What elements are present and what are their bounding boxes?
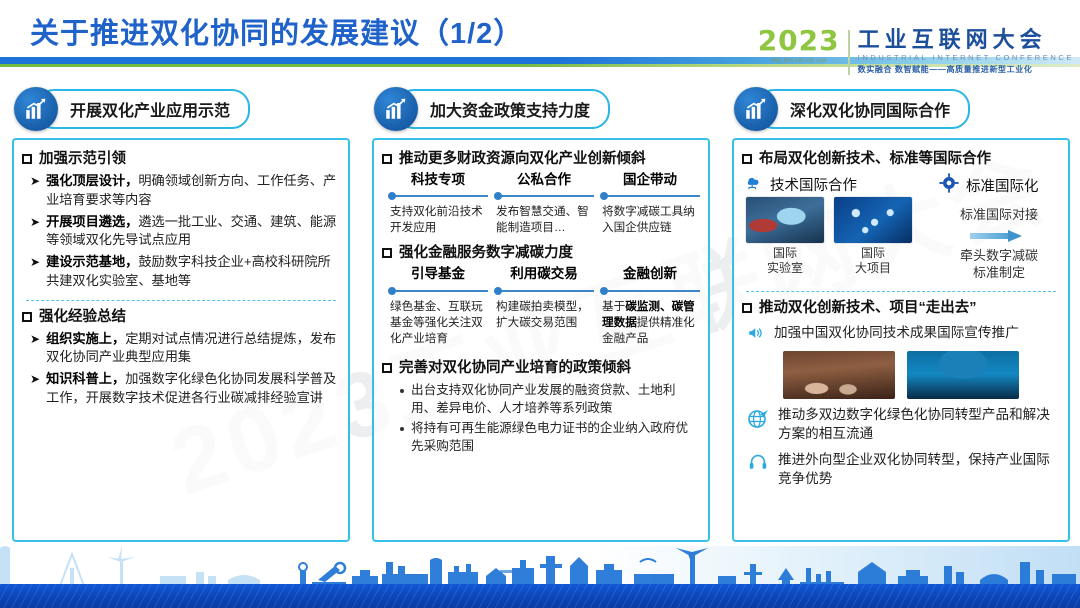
c3-thumb-1: 国际 实验室 xyxy=(746,197,824,276)
mini-rule xyxy=(494,286,594,296)
column-1-pill: 开展双化产业应用示范 xyxy=(36,89,250,129)
c1-item-4-bold: 组织实施上， xyxy=(46,331,125,346)
c2-mini-2-head-2: 利用碳交易 xyxy=(494,266,594,282)
page-title: 关于推进双化协同的发展建议（1/2） xyxy=(30,10,523,52)
column-1-panel: 加强示范引领 ➤ 强化顶层设计，明确领域创新方向、工作任务、产业培育要求等内容 … xyxy=(12,138,350,542)
column-2-title: 加大资金政策支持力度 xyxy=(430,97,590,121)
conference-hall-photo xyxy=(783,351,895,399)
dot-marker-icon xyxy=(388,192,396,200)
headset-icon xyxy=(746,450,770,478)
square-bullet-icon xyxy=(742,303,752,313)
square-bullet-icon xyxy=(382,154,392,164)
arrow-bullet-icon: ➤ xyxy=(30,172,40,190)
c1-item-5-text: 知识科普上，加强数字化绿色化协同发展科学普及工作，开展数字技术促进各行业碳减排经… xyxy=(46,370,340,407)
c3-thumb-1-cap-l1: 国际 xyxy=(746,246,824,261)
square-bullet-icon xyxy=(382,248,392,258)
c1-item-3-text: 建设示范基地，鼓励数字科技企业+高校科研院所共建双化实验室、基地等 xyxy=(46,253,340,290)
c1-heading-2-text: 强化经验总结 xyxy=(39,308,126,326)
network-photo xyxy=(834,197,912,243)
column-3-pill: 深化双化协同国际合作 xyxy=(756,89,970,129)
c1-heading-1: 加强示范引领 xyxy=(22,150,340,168)
arrow-bullet-icon: ➤ xyxy=(30,253,40,271)
arrow-bullet-icon: ➤ xyxy=(30,330,40,348)
c2-heading-1: 推动更多财政资源向双化产业创新倾斜 xyxy=(382,150,700,168)
footer-sea-band xyxy=(0,584,1080,608)
c3-thumb-2: 国际 大项目 xyxy=(834,197,912,276)
c1-heading-1-text: 加强示范引领 xyxy=(39,150,126,168)
c2-mini-1-col-3: 国企带动 将数字减碳工具纳入国企供应链 xyxy=(600,172,700,236)
c3-speaker-text: 加强中国双化协同技术成果国际宣传推广 xyxy=(774,323,1019,342)
c3-note-top: 标准国际对接 xyxy=(938,207,1060,224)
target-crosshair-icon xyxy=(938,172,960,199)
slide-header: 关于推进双化协同的发展建议（1/2） 2023 中国·苏州 9月12日-13日 … xyxy=(0,0,1080,80)
lab-photo xyxy=(746,197,824,243)
square-bullet-icon xyxy=(22,154,32,164)
c3-thumbs: 国际 实验室 国际 大项目 xyxy=(746,197,938,276)
slide-footer xyxy=(0,546,1080,608)
c3-tech-row: 技术国际合作 xyxy=(742,172,938,197)
c2-mini-2-col-1: 引导基金 绿色基金、互联玩基金等强化关注双化产业培育 xyxy=(388,266,488,346)
c2-dot-1-text: 出台支持双化协同产业发展的融资贷款、土地利用、差异电价、人才培养等系列政策 xyxy=(411,381,700,418)
c1-item-3: ➤ 建设示范基地，鼓励数字科技企业+高校科研院所共建双化实验室、基地等 xyxy=(30,253,340,290)
arrow-bullet-icon: ➤ xyxy=(30,213,40,231)
c3-heading-1: 布局双化创新技术、标准等国际合作 xyxy=(742,150,1060,168)
c3-speaker-row: 加强中国双化协同技术成果国际宣传推广 xyxy=(746,323,1060,347)
c3-thumb-1-caption: 国际 实验室 xyxy=(746,246,824,276)
cloud-network-icon xyxy=(742,172,764,197)
c1-heading-2: 强化经验总结 xyxy=(22,308,340,326)
c3-tech-label: 技术国际合作 xyxy=(770,174,857,195)
c2-dot-2: 将持有可再生能源绿色电力证书的企业纳入政府优先采购范围 xyxy=(400,419,700,456)
c2-mini-2-head-3: 金融创新 xyxy=(600,266,700,282)
city-industry-skyline-icon xyxy=(0,546,1080,586)
c1-item-5-bold: 知识科普上， xyxy=(46,371,125,386)
c2-mini-1-body-1: 支持双化前沿技术开发应用 xyxy=(388,204,488,236)
mini-rule xyxy=(388,191,488,201)
c2-mini-table-1: 科技专项 支持双化前沿技术开发应用 公私合作 发布智慧交通、智能制造项目… 国企… xyxy=(388,172,700,236)
logo-slogan: 数实融合 数智赋能——高质量推进新型工业化 xyxy=(858,64,1074,75)
column-1-header: 开展双化产业应用示范 xyxy=(14,86,352,132)
column-3-header: 深化双化协同国际合作 xyxy=(734,86,1072,132)
c2-mini-1-head-3: 国企带动 xyxy=(600,172,700,188)
c3-heading-2: 推动双化创新技术、项目“走出去” xyxy=(742,299,1060,317)
logo-date: 中国·苏州 9月12日-13日 xyxy=(760,57,838,64)
c3-photo-row xyxy=(742,351,1060,399)
c2-heading-3: 完善对双化协同产业培育的政策倾斜 xyxy=(382,359,700,377)
c2-heading-2-text: 强化金融服务数字减碳力度 xyxy=(399,244,573,262)
c2-mini-2-col-3: 金融创新 基于碳监测、碳管理数据提供精准化金融产品 xyxy=(600,266,700,346)
column-2-header: 加大资金政策支持力度 xyxy=(374,86,712,132)
bar-chart-growth-icon xyxy=(374,87,418,131)
mini-rule xyxy=(600,286,700,296)
logo-divider xyxy=(848,30,850,75)
c2-mini-2-body-3-pre: 基于 xyxy=(602,300,625,313)
c3-note-bottom-l2: 标准制定 xyxy=(938,265,1060,282)
c3-standard-label: 标准国际化 xyxy=(966,175,1039,196)
c1-item-4-text: 组织实施上，定期对试点情况进行总结提炼，发布双化协同产业典型应用集 xyxy=(46,330,340,367)
c3-thumb-2-cap-l1: 国际 xyxy=(834,246,912,261)
c3-bullet-2-text: 推进外向型企业双化协同转型，保持产业国际竞争优势 xyxy=(778,450,1060,489)
logo-name-block: 工业互联网大会 INDUSTRIAL INTERNET CONFERENCE 数… xyxy=(858,28,1074,75)
column-1: 开展双化产业应用示范 加强示范引领 ➤ 强化顶层设计，明确领域创新方向、工作任务… xyxy=(0,86,360,556)
c2-heading-1-text: 推动更多财政资源向双化产业创新倾斜 xyxy=(399,150,646,168)
c3-heading-1-text: 布局双化创新技术、标准等国际合作 xyxy=(759,150,991,168)
dot-marker-icon xyxy=(388,287,396,295)
square-bullet-icon xyxy=(382,363,392,373)
c2-mini-1-head-2: 公私合作 xyxy=(494,172,594,188)
column-1-title: 开展双化产业应用示范 xyxy=(70,97,230,121)
columns-container: 开展双化产业应用示范 加强示范引领 ➤ 强化顶层设计，明确领域创新方向、工作任务… xyxy=(0,86,1080,556)
c2-mini-2-body-1: 绿色基金、互联玩基金等强化关注双化产业培育 xyxy=(388,299,488,347)
column-3-panel: 布局双化创新技术、标准等国际合作 技术国际合作 xyxy=(732,138,1070,542)
bar-chart-growth-icon xyxy=(734,87,778,131)
arrow-bullet-icon: ➤ xyxy=(30,370,40,388)
mini-rule xyxy=(600,191,700,201)
logo-name-cn: 工业互联网大会 xyxy=(858,28,1074,51)
c2-mini-1-head-1: 科技专项 xyxy=(388,172,488,188)
c3-note-bottom-l1: 牵头数字减碳 xyxy=(938,248,1060,265)
globe-plane-icon xyxy=(746,405,770,435)
dot-bullet-icon xyxy=(400,389,404,393)
c1-item-1-bold: 强化顶层设计， xyxy=(46,173,138,188)
c2-mini-2-col-2: 利用碳交易 构建碳拍卖模型，扩大碳交易范围 xyxy=(494,266,594,346)
c2-heading-3-text: 完善对双化协同产业培育的政策倾斜 xyxy=(399,359,631,377)
c3-divider xyxy=(746,291,1056,292)
dot-marker-icon xyxy=(494,192,502,200)
column-2-panel: 推动更多财政资源向双化产业创新倾斜 科技专项 支持双化前沿技术开发应用 公私合作… xyxy=(372,138,710,542)
c1-item-1-text: 强化顶层设计，明确领域创新方向、工作任务、产业培育要求等内容 xyxy=(46,172,340,209)
c3-bullet-2: 推进外向型企业双化协同转型，保持产业国际竞争优势 xyxy=(746,450,1060,489)
c3-heading-2-text: 推动双化创新技术、项目“走出去” xyxy=(759,299,977,317)
c3-standard-row: 标准国际化 xyxy=(938,172,1060,199)
c1-item-2: ➤ 开展项目遴选，遴选一批工业、交通、建筑、能源等领域双化先导试点应用 xyxy=(30,213,340,250)
c2-mini-1-col-1: 科技专项 支持双化前沿技术开发应用 xyxy=(388,172,488,236)
column-3-title: 深化双化协同国际合作 xyxy=(790,97,950,121)
square-bullet-icon xyxy=(22,312,32,322)
c3-thumb-1-cap-l2: 实验室 xyxy=(746,261,824,276)
c2-mini-2-body-3: 基于碳监测、碳管理数据提供精准化金融产品 xyxy=(600,299,700,347)
c3-thumb-2-cap-l2: 大项目 xyxy=(834,261,912,276)
speaker-icon xyxy=(746,323,766,347)
c2-mini-table-2: 引导基金 绿色基金、互联玩基金等强化关注双化产业培育 利用碳交易 构建碳拍卖模型… xyxy=(388,266,700,346)
c3-standard-block: 标准国际化 标准国际对接 牵头数字减碳 标准制定 xyxy=(938,172,1060,282)
c1-item-3-bold: 建设示范基地， xyxy=(46,254,138,269)
c1-item-2-bold: 开展项目遴选， xyxy=(46,214,138,229)
column-3: 深化双化协同国际合作 布局双化创新技术、标准等国际合作 技术国际合作 xyxy=(720,86,1080,556)
c2-mini-2-head-1: 引导基金 xyxy=(388,266,488,282)
column-2-pill: 加大资金政策支持力度 xyxy=(396,89,610,129)
down-arrow-icon xyxy=(970,230,1028,242)
c3-thumb-2-caption: 国际 大项目 xyxy=(834,246,912,276)
c2-mini-1-body-3: 将数字减碳工具纳入国企供应链 xyxy=(600,204,700,236)
c2-dot-2-text: 将持有可再生能源绿色电力证书的企业纳入政府优先采购范围 xyxy=(411,419,700,456)
square-bullet-icon xyxy=(742,154,752,164)
c3-tech-block: 技术国际合作 国际 实验室 xyxy=(742,172,938,282)
dot-marker-icon xyxy=(494,287,502,295)
c2-mini-1-col-2: 公私合作 发布智慧交通、智能制造项目… xyxy=(494,172,594,236)
c1-divider xyxy=(26,300,336,301)
logo-year: 2023 xyxy=(758,28,840,55)
logo-name-en: INDUSTRIAL INTERNET CONFERENCE xyxy=(858,53,1074,62)
c3-top-split: 技术国际合作 国际 实验室 xyxy=(742,172,1060,282)
c3-bullet-1: 推动多双边数字化绿色化协同转型产品和解决方案的相互流通 xyxy=(746,405,1060,444)
conference-logo: 2023 中国·苏州 9月12日-13日 工业互联网大会 INDUSTRIAL … xyxy=(758,28,1074,75)
c3-note-bottom: 牵头数字减碳 标准制定 xyxy=(938,248,1060,282)
column-2: 加大资金政策支持力度 推动更多财政资源向双化产业创新倾斜 科技专项 支持双化前沿… xyxy=(360,86,720,556)
c1-item-1: ➤ 强化顶层设计，明确领域创新方向、工作任务、产业培育要求等内容 xyxy=(30,172,340,209)
c2-heading-2: 强化金融服务数字减碳力度 xyxy=(382,244,700,262)
c3-bullet-1-text: 推动多双边数字化绿色化协同转型产品和解决方案的相互流通 xyxy=(778,405,1060,444)
c2-mini-1-body-2: 发布智慧交通、智能制造项目… xyxy=(494,204,594,236)
c1-item-5: ➤ 知识科普上，加强数字化绿色化协同发展科学普及工作，开展数字技术促进各行业碳减… xyxy=(30,370,340,407)
dot-bullet-icon xyxy=(400,427,404,431)
mini-rule xyxy=(494,191,594,201)
slide-root: 关于推进双化协同的发展建议（1/2） 2023 中国·苏州 9月12日-13日 … xyxy=(0,0,1080,608)
c1-item-4: ➤ 组织实施上，定期对试点情况进行总结提炼，发布双化协同产业典型应用集 xyxy=(30,330,340,367)
forum-stage-photo xyxy=(907,351,1019,399)
dot-marker-icon xyxy=(600,192,608,200)
logo-year-block: 2023 中国·苏州 9月12日-13日 xyxy=(758,28,848,64)
bar-chart-growth-icon xyxy=(14,87,58,131)
mini-rule xyxy=(388,286,488,296)
c2-mini-2-body-2: 构建碳拍卖模型，扩大碳交易范围 xyxy=(494,299,594,331)
c2-dot-1: 出台支持双化协同产业发展的融资贷款、土地利用、差异电价、人才培养等系列政策 xyxy=(400,381,700,418)
c1-item-2-text: 开展项目遴选，遴选一批工业、交通、建筑、能源等领域双化先导试点应用 xyxy=(46,213,340,250)
dot-marker-icon xyxy=(600,287,608,295)
